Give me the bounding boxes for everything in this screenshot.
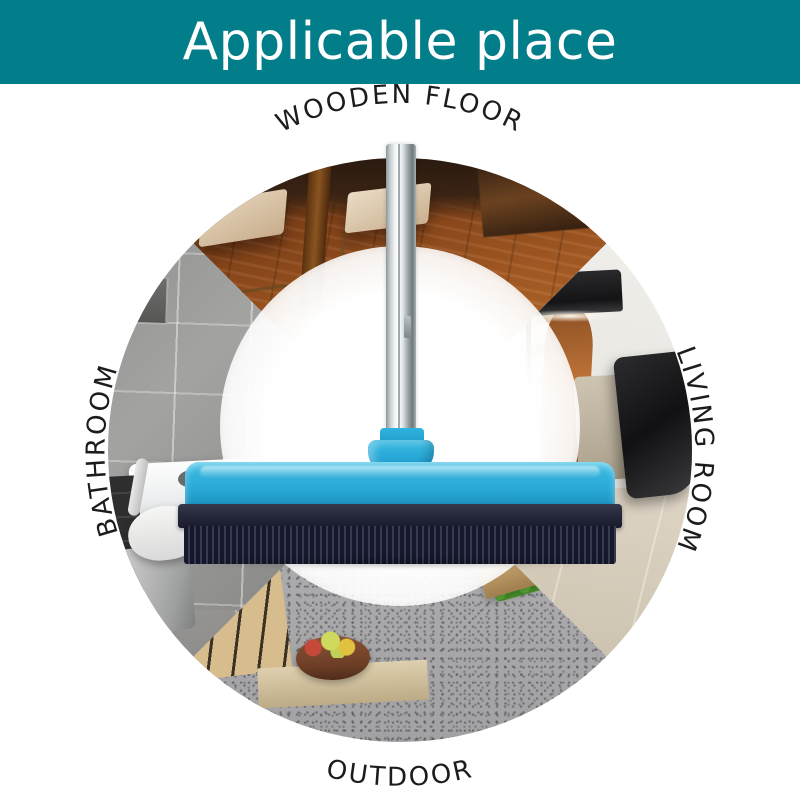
label-wooden-floor-text: WOODEN FLOOR bbox=[271, 80, 528, 139]
label-bathroom-text: BATHROOM bbox=[81, 360, 124, 540]
label-wooden-floor: WOODEN FLOOR bbox=[108, 94, 692, 254]
collage-stage: WOODEN FLOOR BATHROOM LIVING ROOM OUTDOO… bbox=[0, 84, 800, 800]
living-room-lamp-base bbox=[502, 484, 558, 497]
label-outdoor: OUTDOOR bbox=[108, 644, 692, 794]
page-title: Applicable place bbox=[183, 16, 618, 68]
label-living-room-text: LIVING ROOM bbox=[670, 343, 719, 557]
label-outdoor-text: OUTDOOR bbox=[324, 754, 477, 793]
living-room-lamp-stem bbox=[526, 308, 531, 488]
header-banner: Applicable place bbox=[0, 0, 800, 84]
